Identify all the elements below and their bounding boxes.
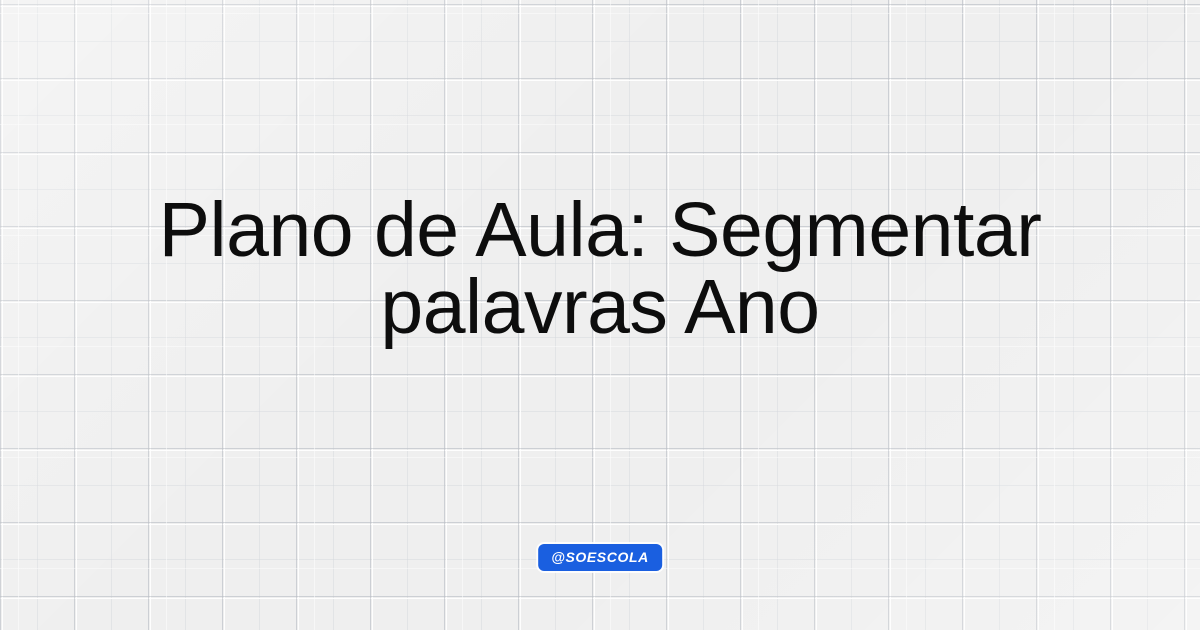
brand-handle-badge: @SOESCOLA <box>538 544 662 571</box>
share-card: Plano de Aula: Segmentar palavras Ano @S… <box>0 0 1200 630</box>
card-content: Plano de Aula: Segmentar palavras Ano @S… <box>0 0 1200 630</box>
brand-badge-container: @SOESCOLA <box>538 544 662 571</box>
page-title: Plano de Aula: Segmentar palavras Ano <box>40 192 1160 346</box>
